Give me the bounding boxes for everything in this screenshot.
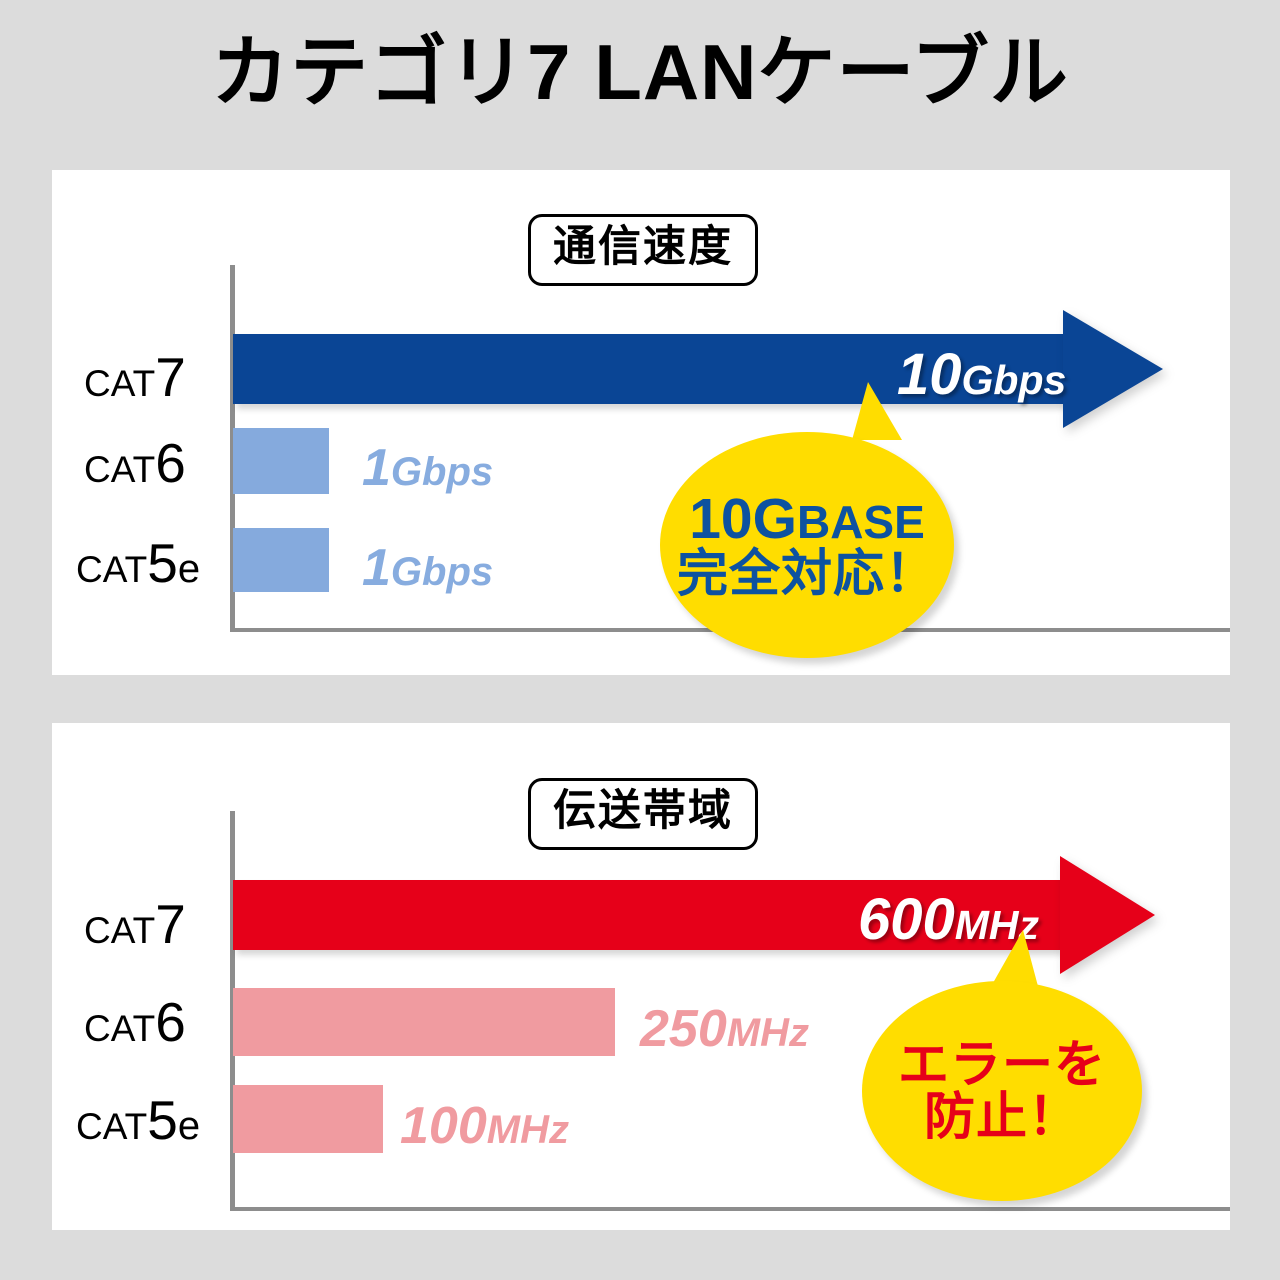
bar-cat7-arrow-head [1063, 310, 1163, 428]
category-label-cat6: CAT6 [84, 995, 186, 1050]
callout-line-2: 完全対応！ [677, 548, 937, 600]
bar-cat5e [233, 1085, 383, 1153]
callout-line-1: エラーを [898, 1039, 1106, 1091]
value-label-cat5e: 100MHz [400, 1100, 569, 1152]
bar-cat6 [233, 428, 329, 494]
callout-line-1: 10GBASE [689, 490, 925, 548]
category-label-cat7: CAT7 [84, 350, 186, 405]
bar-cat7-arrow-head [1060, 856, 1155, 974]
value-label-cat6: 1Gbps [362, 442, 493, 494]
callout-line-2: 防止！ [924, 1091, 1080, 1143]
value-label-cat5e: 1Gbps [362, 542, 493, 594]
callout-bubble-10gbase: 10GBASE 完全対応！ [660, 432, 954, 658]
page-title: カテゴリ7 LANケーブル [0, 32, 1280, 114]
chart-x-axis [230, 1207, 1230, 1211]
category-label-cat6: CAT6 [84, 436, 186, 491]
bar-cat5e [233, 528, 329, 592]
category-label-cat7: CAT7 [84, 897, 186, 952]
callout-tail-speed [852, 382, 902, 440]
section-header-communication-speed: 通信速度 [528, 214, 758, 286]
bar-cat6 [233, 988, 615, 1056]
category-label-cat5e: CAT5e [76, 536, 200, 591]
callout-bubble-error-prevention: エラーを 防止！ [862, 981, 1142, 1201]
value-label-cat6: 250MHz [640, 1003, 809, 1055]
category-label-cat5e: CAT5e [76, 1093, 200, 1148]
section-header-transmission-bandwidth: 伝送帯域 [528, 778, 758, 850]
value-label-cat7: 10Gbps [897, 346, 1066, 404]
